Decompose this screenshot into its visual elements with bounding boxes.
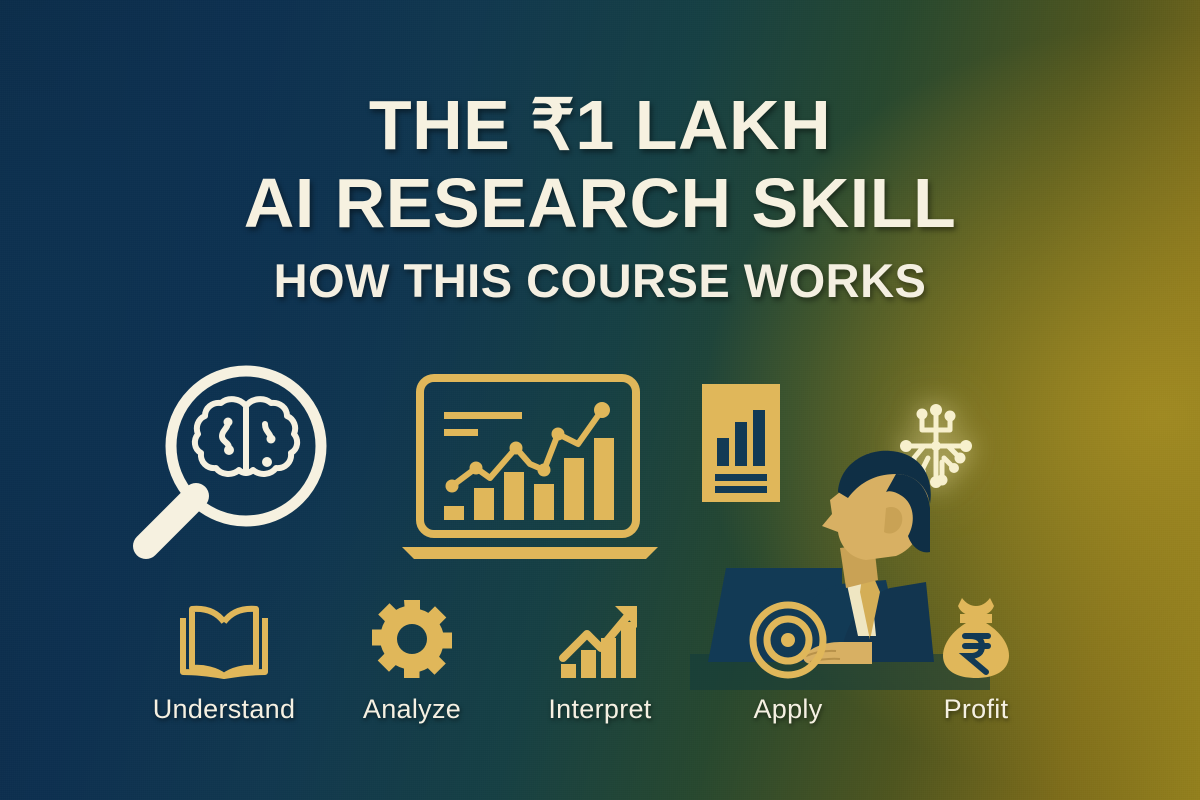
bar-chart-arrow-icon — [557, 596, 643, 680]
step-label-understand: Understand — [153, 694, 296, 725]
step-label-apply: Apply — [753, 694, 822, 725]
gear-icon — [371, 596, 453, 680]
step-apply[interactable]: Apply — [694, 596, 882, 725]
step-interpret[interactable]: Interpret — [506, 596, 694, 725]
open-book-icon — [178, 596, 270, 680]
step-profit[interactable]: Profit — [882, 596, 1070, 725]
page-subtitle: HOW THIS COURSE WORKS — [0, 255, 1200, 307]
money-bag-rupee-icon — [936, 596, 1016, 680]
steps-row: Understand Analyze — [0, 596, 1200, 725]
page-title-line-1: THE ₹1 LAKH — [0, 86, 1200, 164]
laptop-chart-icon — [396, 372, 664, 569]
step-understand[interactable]: Understand — [130, 596, 318, 725]
step-label-profit: Profit — [944, 694, 1009, 725]
step-analyze[interactable]: Analyze — [318, 596, 506, 725]
target-icon — [748, 596, 828, 680]
poster-canvas: THE ₹1 LAKH AI RESEARCH SKILL HOW THIS C… — [0, 0, 1200, 800]
magnifier-brain-icon — [128, 360, 338, 570]
headline-block: THE ₹1 LAKH AI RESEARCH SKILL HOW THIS C… — [0, 86, 1200, 306]
step-label-interpret: Interpret — [548, 694, 651, 725]
step-label-analyze: Analyze — [363, 694, 461, 725]
page-title-line-2: AI RESEARCH SKILL — [0, 164, 1200, 242]
